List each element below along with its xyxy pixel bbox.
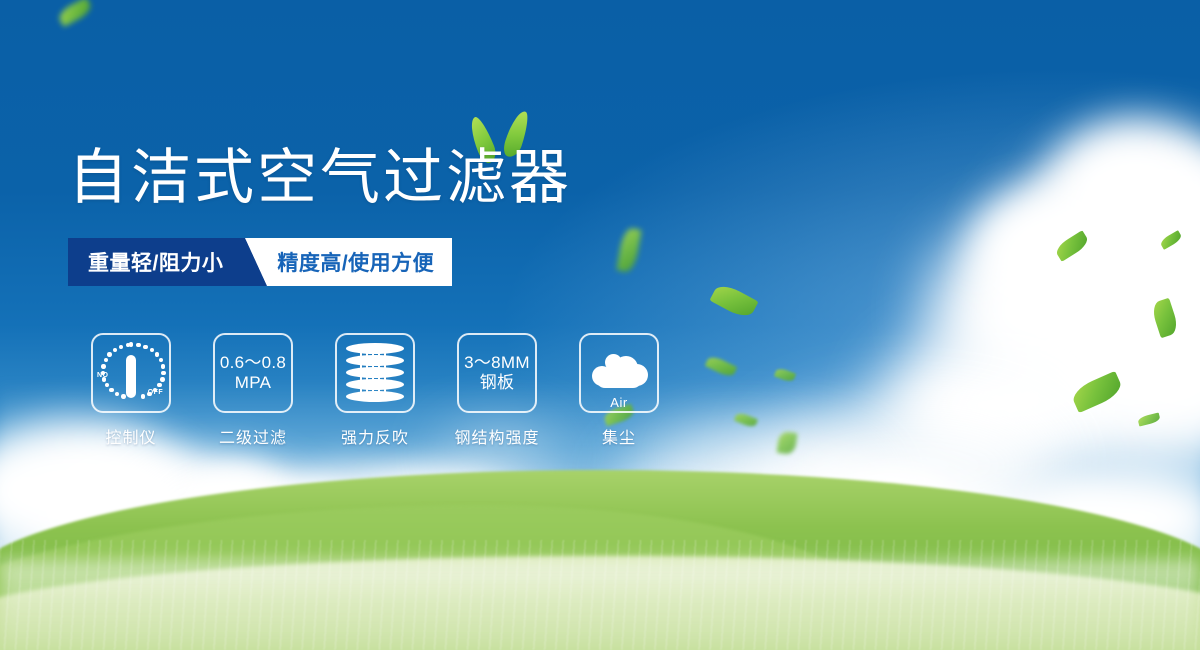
feature-item-steel-structure[interactable]: 3～8MM 钢板 钢结构强度 xyxy=(436,333,558,448)
steel-line-1: 3～8MM xyxy=(464,353,530,373)
gauge-label-no: NO xyxy=(97,372,108,379)
gauge-dial-icon: NO OFF xyxy=(98,342,164,404)
feature-icon-box xyxy=(335,333,415,413)
steel-line-2: 钢板 xyxy=(464,373,530,393)
feature-label: 钢结构强度 xyxy=(454,424,539,448)
cloud-icon-air-label: Air xyxy=(588,395,650,410)
subtitle-divider-wedge xyxy=(245,238,267,286)
feature-label: 控制仪 xyxy=(105,424,156,448)
steel-plate-text: 3～8MM 钢板 xyxy=(464,353,530,392)
gauge-label-off: OFF xyxy=(148,389,163,396)
page-title: 自洁式空气过滤器 xyxy=(68,148,572,208)
feature-icon-box: NO OFF xyxy=(91,333,171,413)
pressure-line-1: 0.6～0.8 xyxy=(220,353,286,373)
cloud-sun-icon: Air xyxy=(588,350,650,396)
feature-item-secondary-filtration[interactable]: 0.6～0.8 MPA 二级过滤 xyxy=(192,333,314,448)
pleated-filter-stack-icon xyxy=(346,343,404,403)
feature-icon-box: 3～8MM 钢板 xyxy=(457,333,537,413)
subtitle-right: 精度高/使用方便 xyxy=(267,238,452,286)
pressure-value-text: 0.6～0.8 MPA xyxy=(220,353,286,392)
grass-sheen xyxy=(0,560,1200,650)
subtitle-left: 重量轻/阻力小 xyxy=(68,238,249,286)
pressure-line-2: MPA xyxy=(220,373,286,393)
feature-list: NO OFF 控制仪 0.6～0.8 MPA 二级过滤 xyxy=(70,333,680,448)
feature-icon-box: 0.6～0.8 MPA xyxy=(213,333,293,413)
gauge-needle xyxy=(126,355,136,398)
feature-label: 强力反吹 xyxy=(341,424,409,448)
feature-item-dust-collection[interactable]: Air 集尘 xyxy=(558,333,680,448)
feature-item-control-instrument[interactable]: NO OFF 控制仪 xyxy=(70,333,192,448)
feature-label: 二级过滤 xyxy=(219,424,287,448)
subtitle-bar: 重量轻/阻力小 精度高/使用方便 xyxy=(68,238,452,286)
feature-icon-box: Air xyxy=(579,333,659,413)
feature-label: 集尘 xyxy=(602,424,636,448)
feature-item-strong-backblow[interactable]: 强力反吹 xyxy=(314,333,436,448)
product-banner: 自洁式空气过滤器 重量轻/阻力小 精度高/使用方便 xyxy=(0,0,1200,650)
